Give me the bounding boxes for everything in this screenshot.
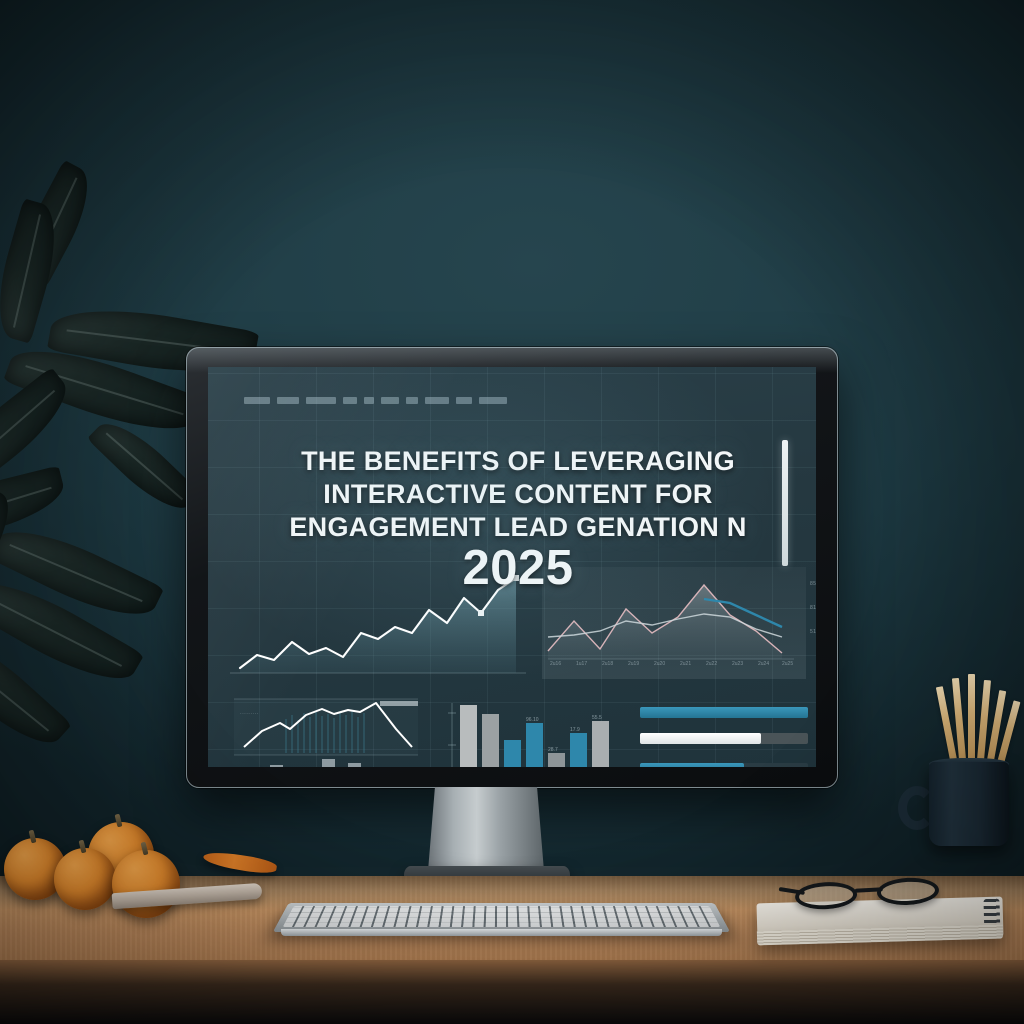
bar-value-label: 96.10: [526, 717, 539, 723]
progress-track-2: [640, 733, 808, 744]
y-tick-label: 51: [810, 629, 816, 635]
header-microtext: [244, 395, 594, 406]
bar-value-label: 55.5: [592, 715, 602, 721]
progress-fill-3: [640, 763, 744, 767]
y-tick-label: 85: [810, 581, 816, 587]
tick-label: 2u22: [706, 661, 717, 667]
title-line-1: THE BENEFITS OF LEVERAGING: [254, 445, 782, 478]
tick-label: 2u19: [628, 661, 639, 667]
progress-track-3: [640, 763, 808, 767]
title-line-2: INTERACTIVE CONTENT FOR: [254, 478, 782, 511]
tick-label: 1u17: [576, 661, 587, 667]
bar-value-label: 28.7: [548, 747, 558, 753]
keyboard-front-edge: [281, 929, 722, 936]
pencil-mug: [929, 762, 1009, 846]
tick-label: 2u24: [758, 661, 769, 667]
glasses-lens-left: [794, 881, 857, 911]
glasses-lens-right: [876, 876, 939, 906]
monitor-screen[interactable]: 2u16 1u17 2u18 2u19 2u20 2u21 2u22 2u23 …: [208, 367, 816, 767]
monitor-stand-neck: [428, 787, 544, 871]
tick-label: 2u16: [550, 661, 561, 667]
bar-value-label: 17.9: [570, 727, 580, 733]
tick-label: 2u21: [680, 661, 691, 667]
desk-front-edge: [0, 960, 1024, 1024]
progress-bars: [640, 703, 808, 767]
monitor: 2u16 1u17 2u18 2u19 2u20 2u21 2u22 2u23 …: [186, 347, 838, 788]
tick-label: 2u23: [732, 661, 743, 667]
keyboard[interactable]: [273, 903, 730, 932]
keyboard-keys: [283, 906, 720, 927]
screen-title: THE BENEFITS OF LEVERAGING INTERACTIVE C…: [254, 445, 782, 594]
combo-legend-label: ·········: [240, 711, 259, 717]
orange: [54, 848, 116, 910]
progress-fill-2: [640, 733, 761, 744]
progress-fill-1: [640, 707, 808, 718]
desk-scene: 2u16 1u17 2u18 2u19 2u20 2u21 2u22 2u23 …: [0, 0, 1024, 1024]
combo-svg: [230, 695, 422, 767]
progress-track-1: [640, 707, 808, 718]
screen-vertical-divider: [782, 440, 788, 566]
tick-label: 2u18: [602, 661, 613, 667]
tick-label: 2u25: [782, 661, 793, 667]
bars-svg: [440, 695, 624, 767]
combo-line-bar-chart: ·········: [230, 695, 422, 767]
title-year: 2025: [254, 542, 782, 594]
category-bar-chart: 96.10 28.7 17.9 55.5: [440, 695, 624, 767]
title-line-3: ENGAGEMENT LEAD GENATION N: [254, 511, 782, 544]
tick-label: 2u20: [654, 661, 665, 667]
y-tick-label: 81: [810, 605, 816, 611]
